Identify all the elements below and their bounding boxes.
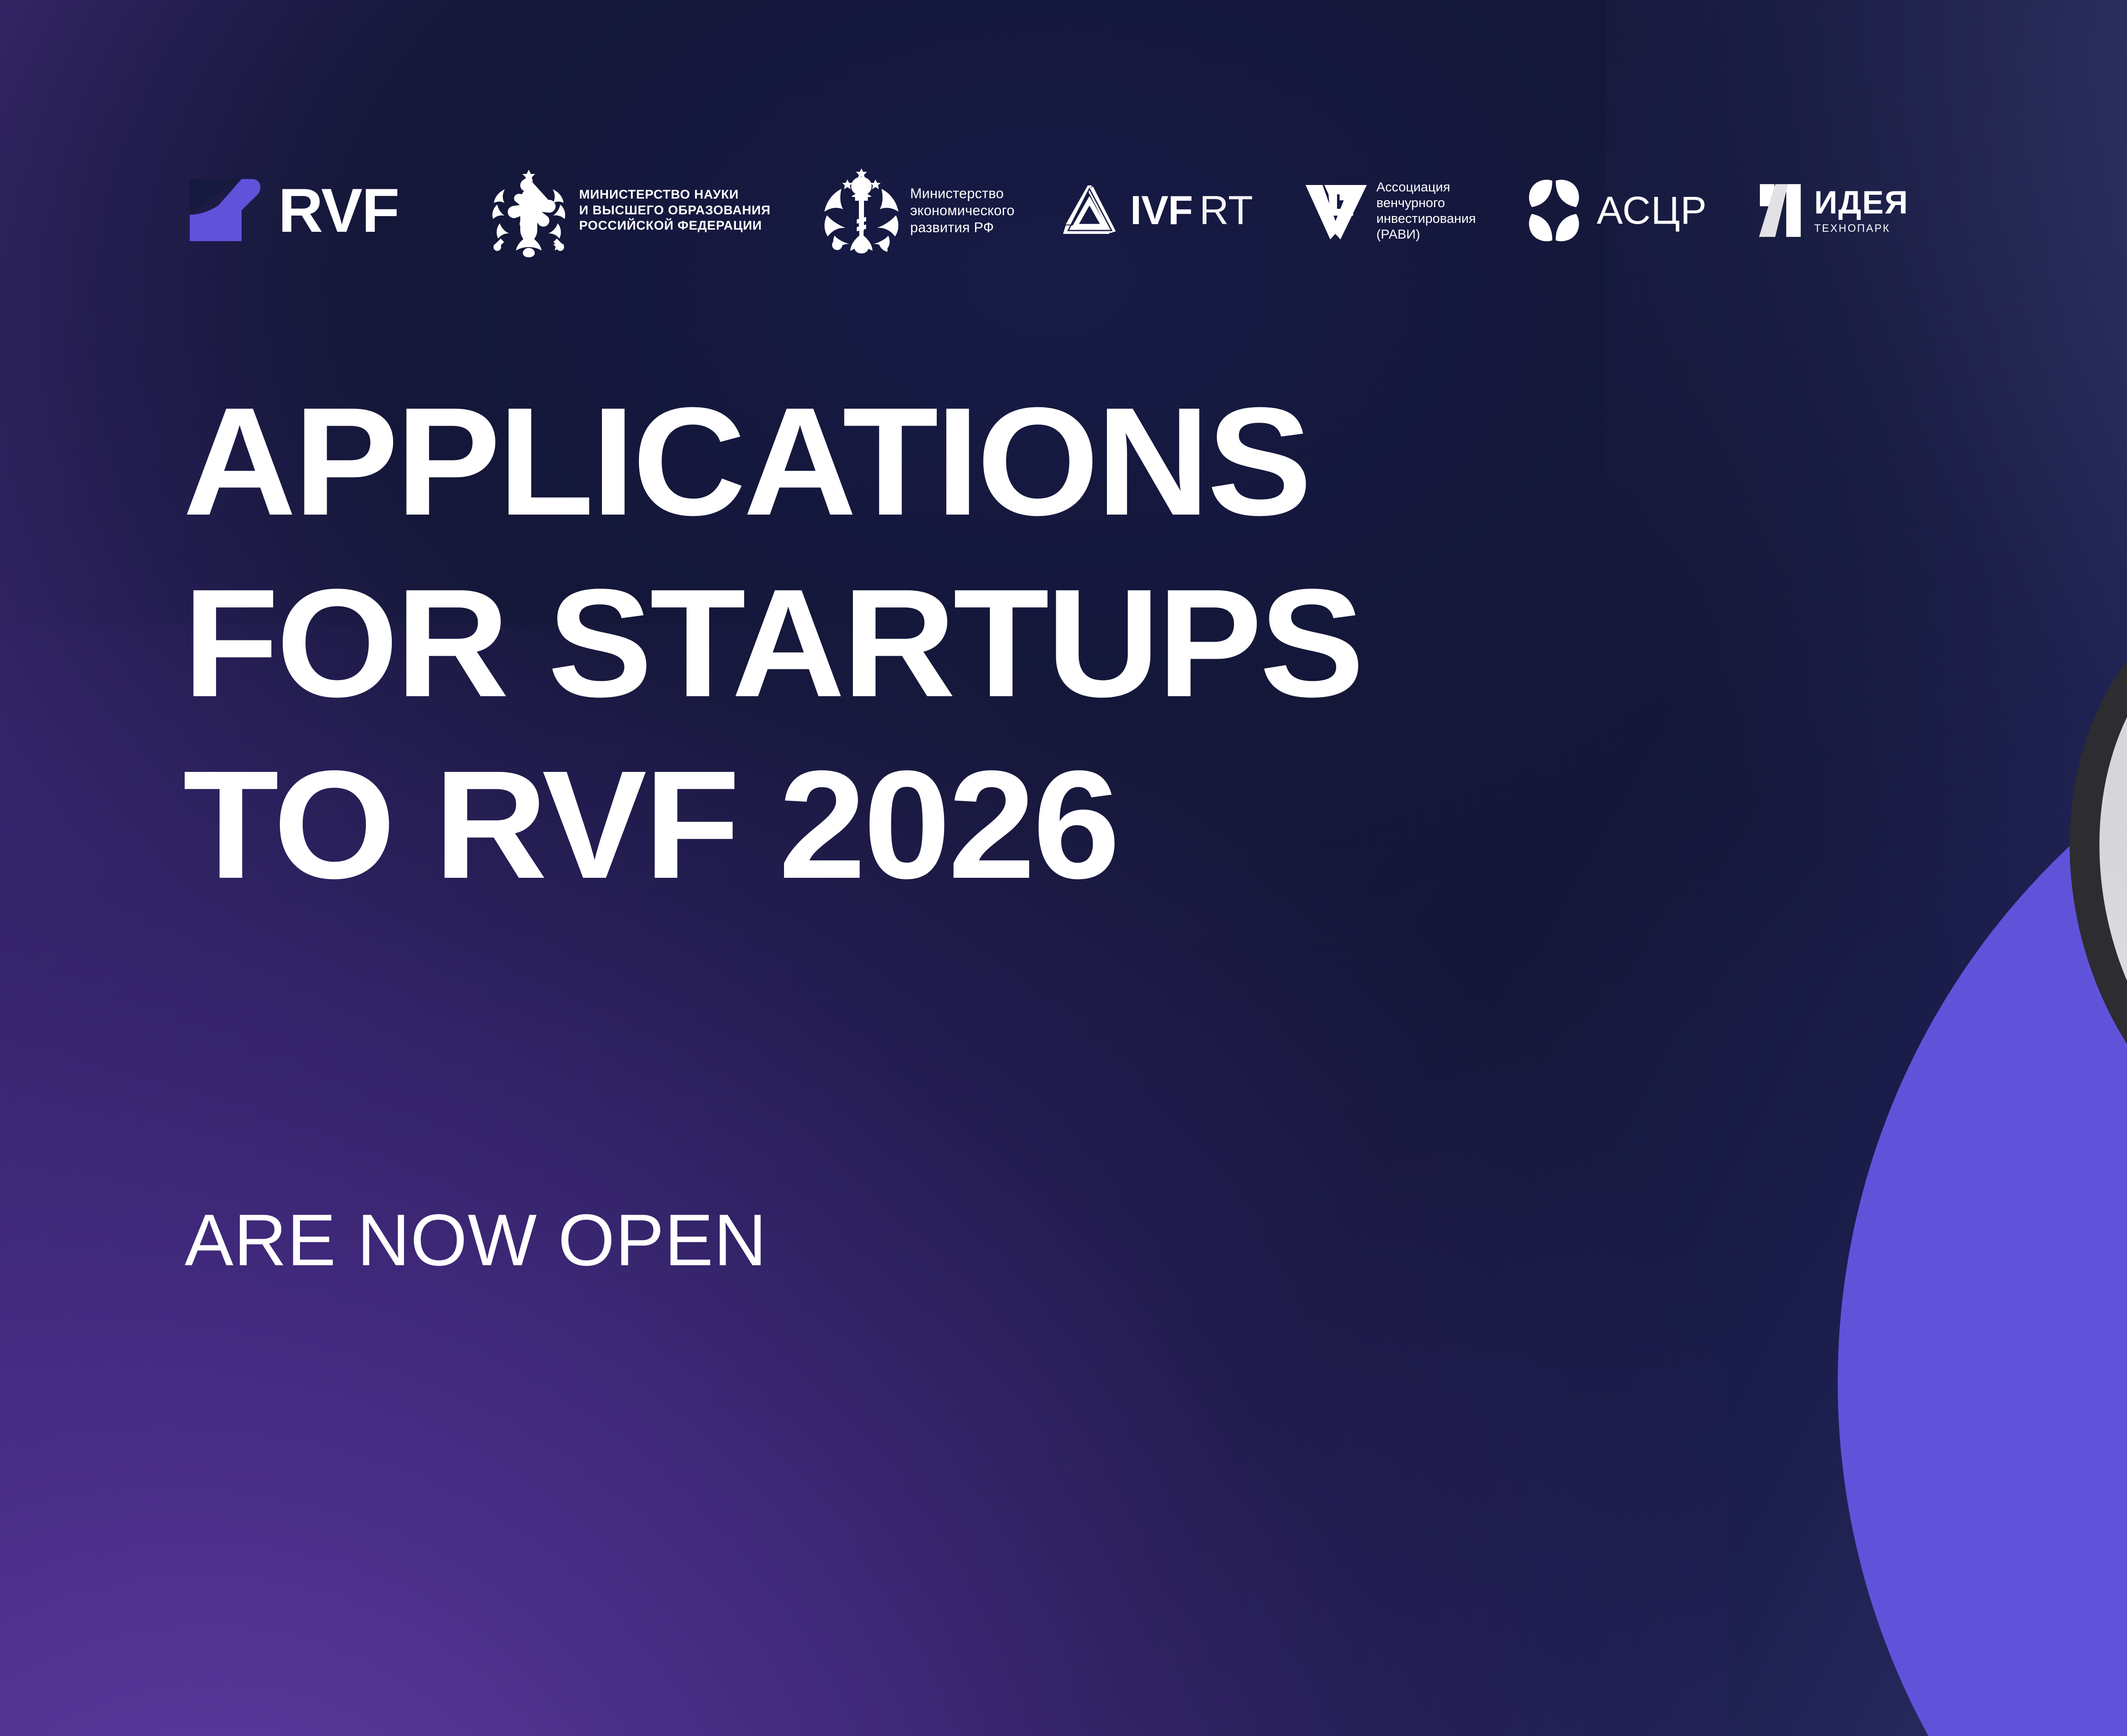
logo-ideya[interactable]: ИДЕЯ ТЕХНОПАРК — [1758, 151, 1909, 270]
ideya-slash-icon — [1758, 182, 1802, 239]
logo-ivf-rt[interactable]: IVF RT — [1061, 151, 1253, 270]
partner-logo-bar: RVF — [187, 151, 1909, 270]
logo-rvf[interactable]: RVF — [187, 151, 399, 270]
logo-ascr[interactable]: АСЦР — [1523, 151, 1707, 270]
headline-block: APPLICATIONS FOR STARTUPS TO RVF 2026 — [183, 383, 2127, 928]
headline-line-3: TO RVF 2026 — [183, 746, 2127, 903]
rvf-logo-icon — [187, 170, 264, 251]
headline-line-2: FOR STARTUPS — [183, 564, 2127, 721]
subline-text: ARE NOW OPEN — [185, 1204, 767, 1277]
minobrnauki-text: МИНИСТЕРСТВО НАУКИ И ВЫСШЕГО ОБРАЗОВАНИЯ… — [579, 187, 770, 234]
four-petal-flower-icon — [1523, 178, 1585, 243]
ascr-wordmark: АСЦР — [1597, 191, 1707, 230]
rt-wordmark: RT — [1199, 190, 1253, 231]
rvf-wordmark: RVF — [278, 179, 399, 242]
logo-minek[interactable]: Министерство экономического развития РФ — [822, 151, 1015, 270]
logo-ravi[interactable]: Ассоциация венчурного инвестирования (РА… — [1304, 151, 1476, 270]
logo-minobrnauki[interactable]: МИНИСТЕРСТВО НАУКИ И ВЫСШЕГО ОБРАЗОВАНИЯ… — [488, 151, 770, 270]
penrose-triangle-icon — [1061, 184, 1119, 237]
ravi-text: Ассоциация венчурного инвестирования (РА… — [1376, 179, 1476, 242]
ivf-wordmark: IVF — [1130, 190, 1192, 231]
ideya-wordmark: ИДЕЯ — [1814, 187, 1909, 219]
ravi-v-icon — [1304, 181, 1368, 240]
double-headed-eagle-icon — [822, 165, 901, 256]
double-headed-eagle-icon — [488, 164, 570, 257]
minek-text: Министерство экономического развития РФ — [910, 185, 1015, 236]
ideya-subtitle: ТЕХНОПАРК — [1814, 222, 1890, 235]
promo-banner: RVF — [0, 0, 2127, 1736]
headline-line-1: APPLICATIONS — [183, 383, 2127, 540]
